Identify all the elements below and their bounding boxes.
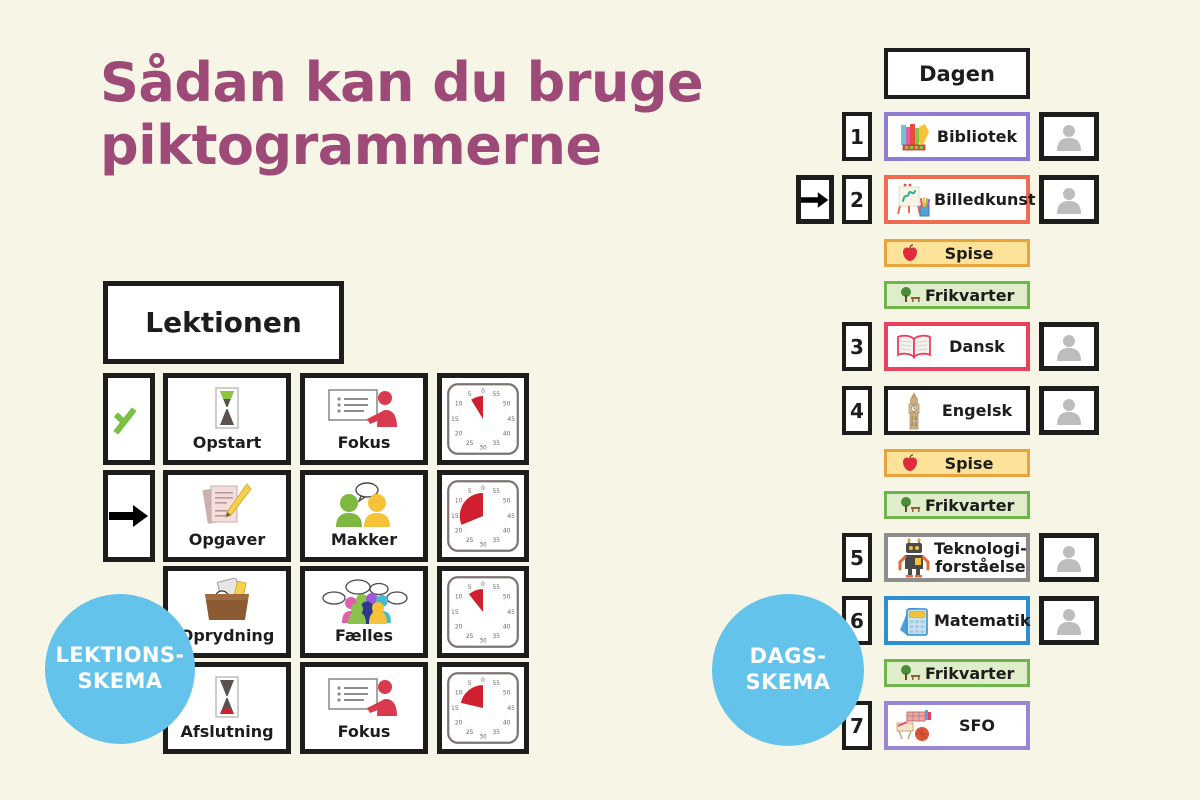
papers-pencil-icon xyxy=(168,482,286,528)
svg-text:25: 25 xyxy=(466,634,474,640)
svg-text:15: 15 xyxy=(451,610,459,616)
lesson-row-2-timer[interactable]: 05550 454035 302520 15105 xyxy=(437,470,529,562)
lesson-row-1-activity-label: Opstart xyxy=(193,433,262,452)
svg-text:35: 35 xyxy=(493,538,501,544)
time-timer-icon: 05550 454035 302520 15105 xyxy=(446,382,520,456)
svg-text:50: 50 xyxy=(503,691,511,697)
svg-text:25: 25 xyxy=(466,538,474,544)
lesson-row-3-mode-label: Fælles xyxy=(335,626,393,645)
svg-text:15: 15 xyxy=(451,417,459,423)
svg-text:45: 45 xyxy=(507,417,515,423)
day-row-12-subject[interactable]: SFO xyxy=(884,701,1030,750)
lesson-badge-line-2: SKEMA xyxy=(55,669,184,695)
svg-text:30: 30 xyxy=(479,638,487,644)
svg-text:35: 35 xyxy=(493,634,501,640)
day-row-8-break[interactable]: Frikvarter xyxy=(884,491,1030,519)
lesson-row-2-marker[interactable] xyxy=(103,470,155,562)
day-row-9-label-line-2: forståelse xyxy=(934,558,1027,576)
apple-icon xyxy=(895,244,925,262)
day-row-5-number: 3 xyxy=(842,322,872,371)
day-row-5-subject[interactable]: Dansk xyxy=(884,322,1030,371)
svg-text:40: 40 xyxy=(503,528,511,534)
calculator-icon xyxy=(894,600,934,641)
svg-text:45: 45 xyxy=(507,514,515,520)
lesson-row-2-activity-label: Opgaver xyxy=(189,530,265,549)
day-row-12-label: SFO xyxy=(934,717,1026,735)
person-icon xyxy=(1054,332,1084,362)
day-badge-line-2: SKEMA xyxy=(746,670,831,696)
svg-text:0: 0 xyxy=(481,389,485,395)
day-row-3-label: Spise xyxy=(925,244,1027,263)
svg-text:30: 30 xyxy=(479,734,487,740)
svg-text:15: 15 xyxy=(451,514,459,520)
tidy-up-box-icon xyxy=(168,578,286,624)
day-row-9-label: Teknologi- forståelse xyxy=(934,540,1033,575)
day-row-9-subject[interactable]: Teknologi- forståelse xyxy=(884,533,1030,582)
lesson-row-1-marker[interactable] xyxy=(103,373,155,465)
svg-text:15: 15 xyxy=(451,706,459,712)
svg-text:0: 0 xyxy=(481,486,485,492)
lesson-row-4-mode[interactable]: Fokus xyxy=(300,662,428,754)
lesson-row-3-mode[interactable]: Fælles xyxy=(300,566,428,658)
svg-text:40: 40 xyxy=(503,431,511,437)
day-row-7-label: Spise xyxy=(925,454,1027,473)
person-icon xyxy=(1054,185,1084,215)
svg-text:25: 25 xyxy=(466,441,474,447)
day-row-6-person[interactable] xyxy=(1039,386,1099,435)
svg-text:0: 0 xyxy=(481,678,485,684)
svg-text:5: 5 xyxy=(468,489,472,495)
svg-text:5: 5 xyxy=(468,681,472,687)
person-icon xyxy=(1054,396,1084,426)
day-row-10-person[interactable] xyxy=(1039,596,1099,645)
day-row-5-label: Dansk xyxy=(934,338,1026,356)
svg-text:45: 45 xyxy=(507,706,515,712)
lesson-row-1-mode[interactable]: Fokus xyxy=(300,373,428,465)
lesson-row-4-mode-label: Fokus xyxy=(338,722,391,741)
lesson-schedule-header: Lektionen xyxy=(103,281,344,364)
lesson-row-2-mode-label: Makker xyxy=(331,530,397,549)
page-title: Sådan kan du bruge piktogrammerne xyxy=(100,52,720,177)
day-row-1-label: Bibliotek xyxy=(934,128,1026,146)
svg-text:55: 55 xyxy=(493,489,501,495)
svg-text:45: 45 xyxy=(507,610,515,616)
svg-text:5: 5 xyxy=(468,585,472,591)
page-title-line-1: Sådan kan du bruge xyxy=(100,52,720,115)
time-timer-icon: 05550 454035 302520 15105 xyxy=(446,671,520,745)
svg-text:40: 40 xyxy=(503,720,511,726)
svg-text:55: 55 xyxy=(493,392,501,398)
lesson-row-1-timer[interactable]: 05550 454035 302520 15105 xyxy=(437,373,529,465)
two-people-talking-icon xyxy=(305,482,423,528)
lesson-badge-line-1: LEKTIONS- xyxy=(55,643,184,669)
whiteboard-teacher-icon xyxy=(305,674,423,720)
books-icon xyxy=(894,116,934,157)
day-row-2-label: Billedkunst xyxy=(934,191,1042,209)
apple-icon xyxy=(895,454,925,472)
time-timer-icon: 05550 454035 302520 15105 xyxy=(446,575,520,649)
svg-text:20: 20 xyxy=(455,431,463,437)
svg-text:35: 35 xyxy=(493,730,501,736)
day-schedule-header: Dagen xyxy=(884,48,1030,99)
tree-bench-icon xyxy=(895,286,925,304)
day-row-9-label-line-1: Teknologi- xyxy=(934,540,1027,558)
easel-paint-icon xyxy=(894,179,934,220)
person-icon xyxy=(1054,543,1084,573)
svg-text:25: 25 xyxy=(466,730,474,736)
day-row-11-break[interactable]: Frikvarter xyxy=(884,659,1030,687)
day-row-7-break[interactable]: Spise xyxy=(884,449,1030,477)
hourglass-green-icon xyxy=(168,385,286,431)
big-ben-icon xyxy=(894,390,934,431)
lesson-row-1-activity[interactable]: Opstart xyxy=(163,373,291,465)
day-row-3-break[interactable]: Spise xyxy=(884,239,1030,267)
svg-text:20: 20 xyxy=(455,528,463,534)
tree-bench-icon xyxy=(895,664,925,682)
day-row-10-subject[interactable]: Matematik xyxy=(884,596,1030,645)
svg-text:50: 50 xyxy=(503,595,511,601)
svg-text:20: 20 xyxy=(455,720,463,726)
page-title-line-2: piktogrammerne xyxy=(100,115,720,178)
day-row-9-person[interactable] xyxy=(1039,533,1099,582)
day-current-arrow[interactable] xyxy=(796,175,834,224)
svg-text:10: 10 xyxy=(455,595,463,601)
whiteboard-teacher-icon xyxy=(305,385,423,431)
day-row-2-number: 2 xyxy=(842,175,872,224)
svg-text:50: 50 xyxy=(503,402,511,408)
day-row-2-person[interactable] xyxy=(1039,175,1099,224)
svg-text:30: 30 xyxy=(479,445,487,451)
lesson-row-4-timer[interactable]: 05550 454035 302520 15105 xyxy=(437,662,529,754)
day-row-6-label: Engelsk xyxy=(934,402,1026,420)
lesson-row-4-activity-label: Afslutning xyxy=(180,722,273,741)
lesson-row-3-activity-label: Oprydning xyxy=(180,626,275,645)
open-book-icon xyxy=(894,326,934,367)
tree-bench-icon xyxy=(895,496,925,514)
lesson-row-3-timer[interactable]: 05550 454035 302520 15105 xyxy=(437,566,529,658)
svg-text:40: 40 xyxy=(503,624,511,630)
lesson-row-2-activity[interactable]: Opgaver xyxy=(163,470,291,562)
day-row-10-label: Matematik xyxy=(934,612,1036,630)
group-discussion-icon xyxy=(305,578,423,624)
day-row-4-break[interactable]: Frikvarter xyxy=(884,281,1030,309)
day-schedule-badge: DAGS- SKEMA xyxy=(712,594,864,746)
day-row-1-number: 1 xyxy=(842,112,872,161)
day-row-5-person[interactable] xyxy=(1039,322,1099,371)
svg-text:50: 50 xyxy=(503,499,511,505)
time-timer-icon: 05550 454035 302520 15105 xyxy=(446,479,520,553)
svg-text:5: 5 xyxy=(468,392,472,398)
robot-icon xyxy=(894,537,934,578)
day-row-1-subject[interactable]: Bibliotek xyxy=(884,112,1030,161)
day-row-8-label: Frikvarter xyxy=(925,496,1028,515)
day-badge-line-1: DAGS- xyxy=(746,644,831,670)
svg-text:35: 35 xyxy=(493,441,501,447)
svg-text:55: 55 xyxy=(493,681,501,687)
black-arrow-icon xyxy=(109,503,149,529)
lesson-row-2-mode[interactable]: Makker xyxy=(300,470,428,562)
person-icon xyxy=(1054,606,1084,636)
day-row-11-label: Frikvarter xyxy=(925,664,1028,683)
day-row-2-subject[interactable]: Billedkunst xyxy=(884,175,1030,224)
person-icon xyxy=(1054,122,1084,152)
svg-text:10: 10 xyxy=(455,402,463,408)
day-row-6-subject[interactable]: Engelsk xyxy=(884,386,1030,435)
day-row-9-number: 5 xyxy=(842,533,872,582)
svg-text:10: 10 xyxy=(455,499,463,505)
sfo-play-icon xyxy=(894,705,934,746)
lesson-row-1-mode-label: Fokus xyxy=(338,433,391,452)
day-row-4-label: Frikvarter xyxy=(925,286,1028,305)
black-arrow-icon xyxy=(801,190,829,210)
poster-canvas: Sådan kan du bruge piktogrammerne Lektio… xyxy=(0,0,1200,800)
svg-text:0: 0 xyxy=(481,582,485,588)
svg-text:20: 20 xyxy=(455,624,463,630)
day-row-6-number: 4 xyxy=(842,386,872,435)
lesson-schedule-badge: LEKTIONS- SKEMA xyxy=(45,594,195,744)
svg-text:30: 30 xyxy=(479,542,487,548)
green-check-icon xyxy=(112,402,146,436)
svg-text:10: 10 xyxy=(455,691,463,697)
svg-text:55: 55 xyxy=(493,585,501,591)
day-row-1-person[interactable] xyxy=(1039,112,1099,161)
